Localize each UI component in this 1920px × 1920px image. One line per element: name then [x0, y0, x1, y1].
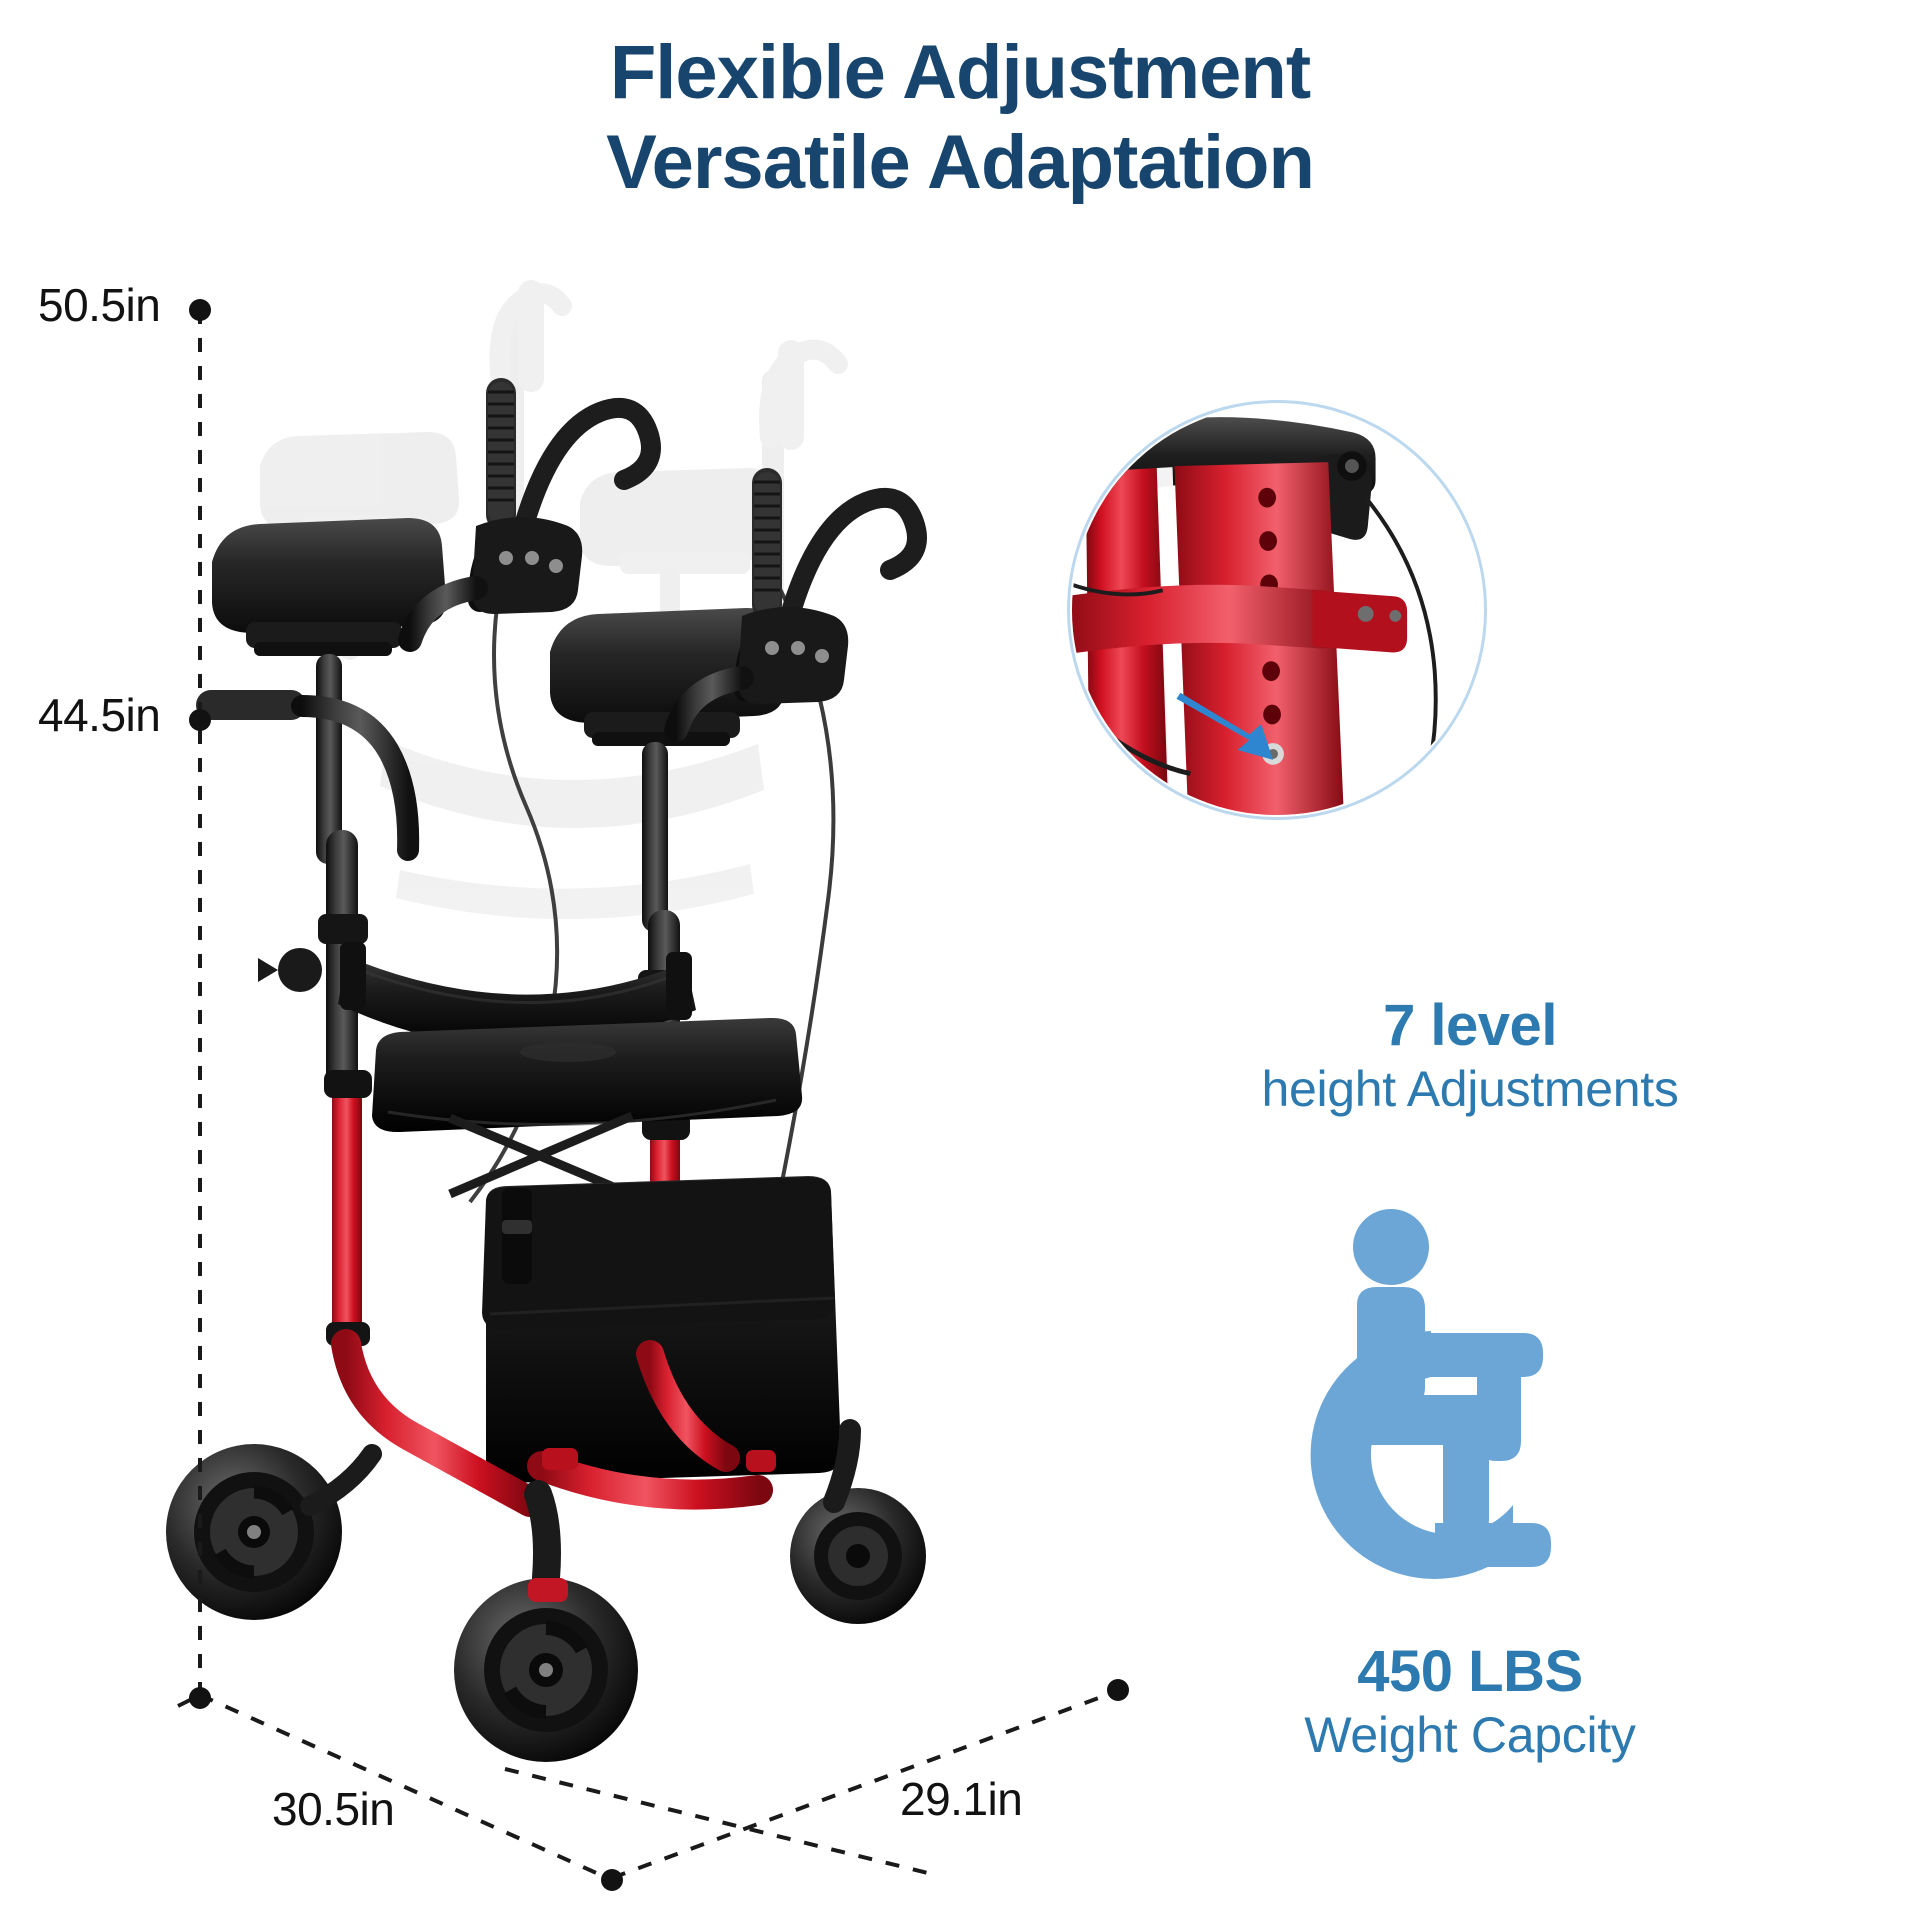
- wheelchair-glyph: [1195, 1205, 1575, 1595]
- feature-weight-capacity-text: 450 LBS Weight Capcity: [1090, 1640, 1850, 1765]
- frame-clip-red: [542, 1448, 578, 1470]
- page-title: Flexible Adjustment Versatile Adaptation: [0, 28, 1920, 207]
- wheelchair-icon: [1195, 1205, 1575, 1595]
- leg-tube-left-red: [332, 1082, 362, 1350]
- frame-clip-red-2: [746, 1450, 776, 1472]
- wheel-rear-left: [166, 1444, 342, 1620]
- dimension-label-depth: 30.5in: [272, 1782, 394, 1836]
- armrest-post-right: [642, 742, 668, 932]
- dimension-label-height-max: 50.5in: [38, 278, 160, 332]
- infographic-page: Flexible Adjustment Versatile Adaptation: [0, 0, 1920, 1920]
- clamp-left-lower: [324, 1070, 372, 1098]
- wheel-rear-right: [790, 1488, 926, 1624]
- feature-height-adjustment-text: 7 level height Adjustments: [1090, 994, 1850, 1119]
- rollator-walker-graphic: [150, 270, 1070, 1830]
- dimension-label-width: 29.1in: [900, 1772, 1022, 1826]
- fork-front-center: [538, 1494, 547, 1578]
- rear-grip-left: [196, 690, 408, 850]
- cross-brace: [450, 1116, 632, 1194]
- feature-weight-headline: 450 LBS: [1090, 1640, 1850, 1705]
- seat-board: [372, 1018, 802, 1132]
- wheel-front-center: [454, 1578, 638, 1762]
- title-line-2: Versatile Adaptation: [0, 118, 1920, 208]
- feature-height-headline: 7 level: [1090, 994, 1850, 1059]
- feature-weight-subline: Weight Capcity: [1090, 1705, 1850, 1765]
- brake-lever-rear: [788, 498, 917, 622]
- dimension-label-height-min: 44.5in: [38, 688, 160, 742]
- storage-bag: [482, 1176, 841, 1483]
- detail-circle-graphic: [1070, 403, 1484, 817]
- title-line-1: Flexible Adjustment: [0, 28, 1920, 118]
- product-illustration: [150, 270, 1070, 1830]
- height-adjustment-detail-circle: [1067, 400, 1487, 820]
- clamp-left-upper: [318, 914, 368, 944]
- adjustment-knob-left: [278, 948, 322, 992]
- feature-height-subline: height Adjustments: [1090, 1059, 1850, 1119]
